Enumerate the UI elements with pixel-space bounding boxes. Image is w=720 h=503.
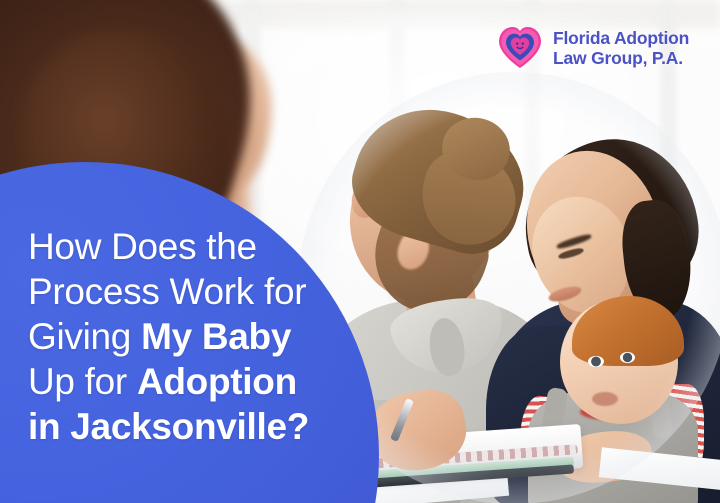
logo-text: Florida Adoption Law Group, P.A. [553, 28, 689, 68]
heart-icon [496, 24, 544, 72]
logo[interactable]: Florida Adoption Law Group, P.A. [496, 24, 689, 72]
logo-text-line-2: Law Group, P.A. [553, 48, 689, 68]
page-title: How Does the Process Work for Giving My … [28, 224, 358, 449]
headline-line-4: Up for Adoption [28, 359, 358, 404]
headline-line-3-bold: My Baby [141, 316, 291, 357]
headline-line-3: Giving My Baby [28, 314, 358, 359]
blog-hero-banner: How Does the Process Work for Giving My … [0, 0, 720, 503]
headline-line-3-regular: Giving [28, 316, 141, 357]
headline-line-5: in Jacksonville? [28, 404, 358, 449]
headline-line-4-bold: Adoption [137, 361, 297, 402]
headline-line-1: How Does the [28, 224, 358, 269]
logo-text-line-1: Florida Adoption [553, 28, 689, 48]
headline-line-2: Process Work for [28, 269, 358, 314]
headline-line-4-regular: Up for [28, 361, 137, 402]
